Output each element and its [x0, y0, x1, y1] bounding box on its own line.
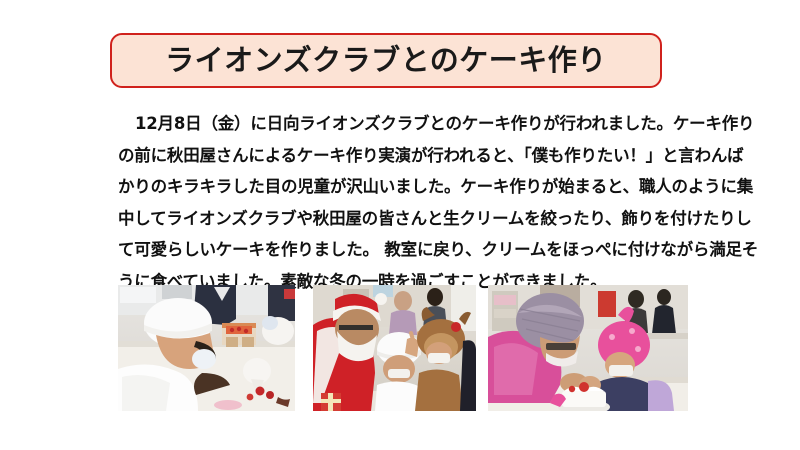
- page-title: ライオンズクラブとのケーキ作り: [165, 46, 607, 75]
- photo-santa-with-children: [313, 285, 476, 411]
- body-paragraph: 12月8日（金）に日向ライオンズクラブとのケーキ作りが行われました。ケーキ作り …: [118, 108, 654, 297]
- body-line: かりのキラキラした目の児童が沢山いました。ケーキ作りが始まると、職人のように集: [118, 171, 654, 203]
- photo-gallery: [118, 285, 688, 411]
- photo-child-chef-whipping-cream: [118, 285, 295, 411]
- body-line: の前に秋田屋さんによるケーキ作り実演が行われると、「僕も作りたい！」と言わんば: [118, 140, 654, 172]
- body-line: て可愛らしいケーキを作りました。 教室に戻り、クリームをほっぺに付けながら満足そ: [118, 234, 654, 266]
- body-line: 中してライオンズクラブや秋田屋の皆さんと生クリームを絞ったり、飾りを付けたりし: [118, 203, 654, 235]
- photo-volunteer-helping-child-decorate-cake: [488, 285, 688, 411]
- body-line: 12月8日（金）に日向ライオンズクラブとのケーキ作りが行われました。ケーキ作り: [118, 108, 654, 140]
- title-banner: ライオンズクラブとのケーキ作り: [110, 33, 662, 88]
